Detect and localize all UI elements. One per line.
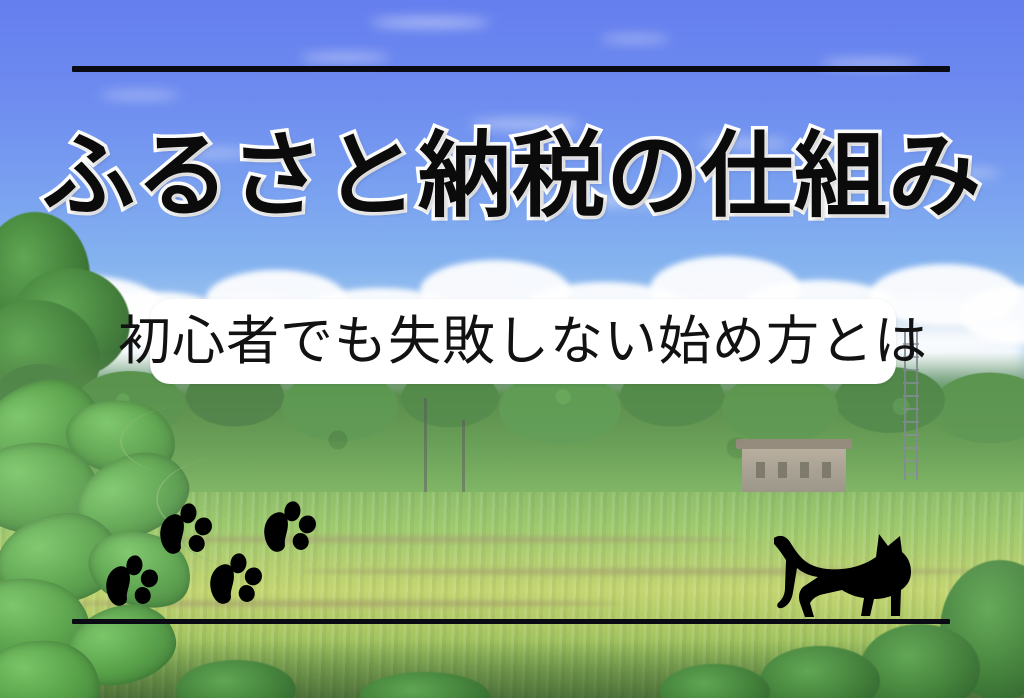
page-title: ふるさと納税の仕組み: [42, 128, 982, 226]
cat-silhouette-icon: [772, 524, 914, 624]
title-container: ふるさと納税の仕組み: [0, 128, 1024, 226]
paw-print-icon: [202, 550, 267, 614]
building: [742, 446, 846, 492]
banner-image: ふるさと納税の仕組み 初心者でも失敗しない始め方とは: [0, 0, 1024, 698]
paw-print-icon: [152, 500, 217, 564]
wisp-cloud: [370, 18, 490, 27]
page-subtitle: 初心者でも失敗しない始め方とは: [118, 315, 928, 368]
paw-print-icon: [256, 498, 321, 562]
wisp-cloud: [100, 92, 180, 98]
top-divider-rule: [72, 66, 950, 72]
subtitle-box: 初心者でも失敗しない始め方とは: [150, 299, 896, 384]
paw-print-icon: [98, 552, 163, 616]
utility-pole: [424, 398, 427, 506]
wisp-cloud: [600, 36, 670, 42]
foreground-foliage: [0, 382, 300, 698]
wisp-cloud: [300, 54, 390, 61]
